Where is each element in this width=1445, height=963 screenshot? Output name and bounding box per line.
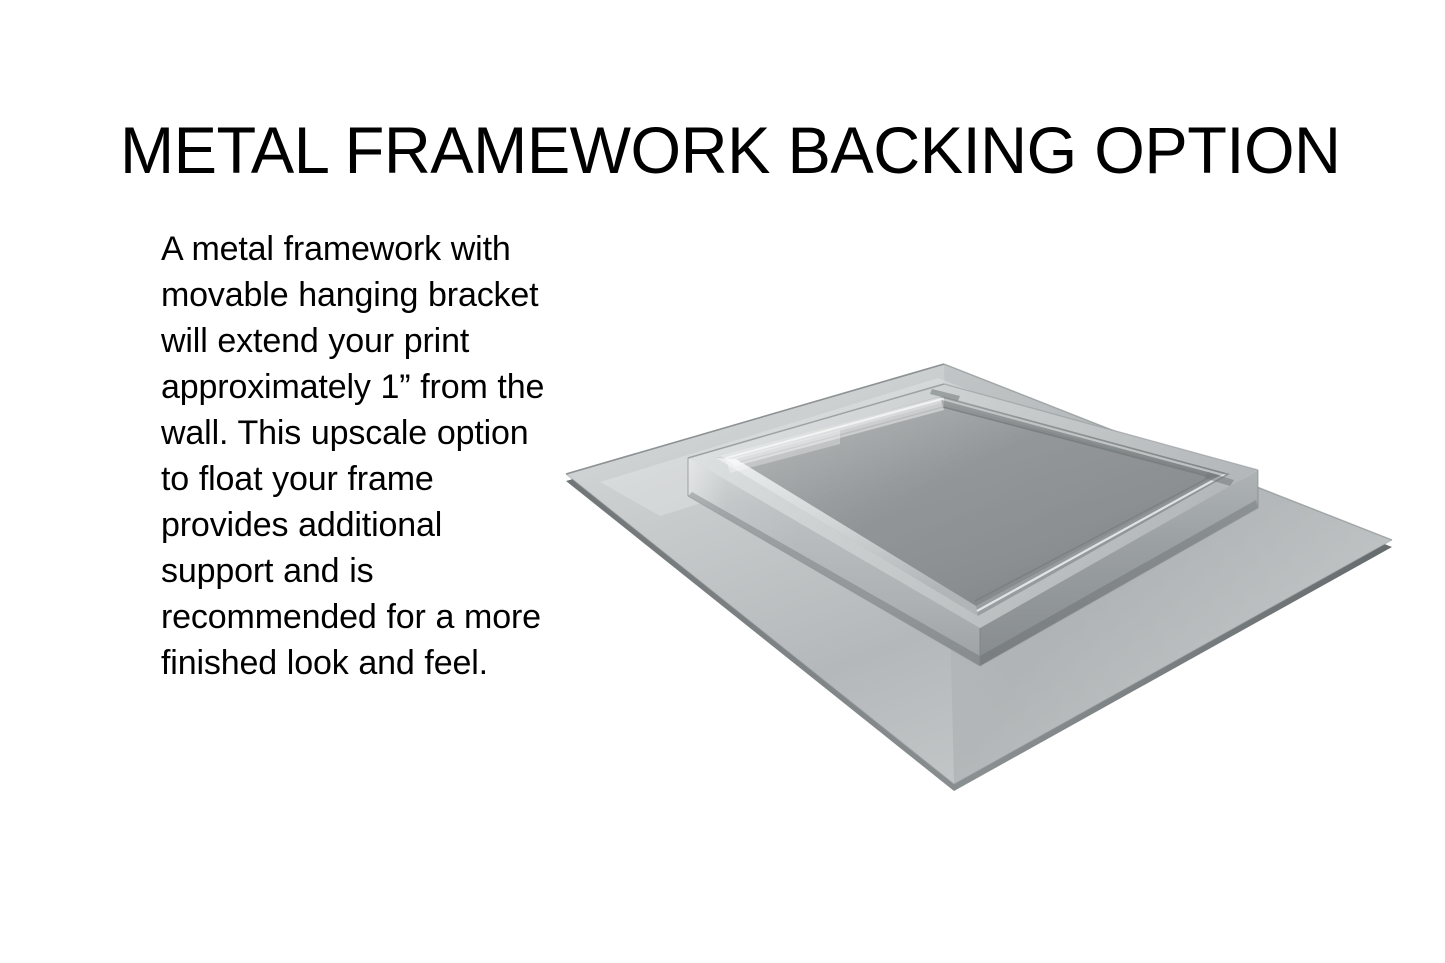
product-illustration — [540, 340, 1420, 810]
body-paragraph: A metal framework with movable hanging b… — [161, 226, 553, 686]
metal-framework-diagram — [540, 340, 1420, 810]
slide-canvas: METAL FRAMEWORK BACKING OPTION A metal f… — [0, 0, 1445, 963]
page-title: METAL FRAMEWORK BACKING OPTION — [120, 116, 1312, 185]
